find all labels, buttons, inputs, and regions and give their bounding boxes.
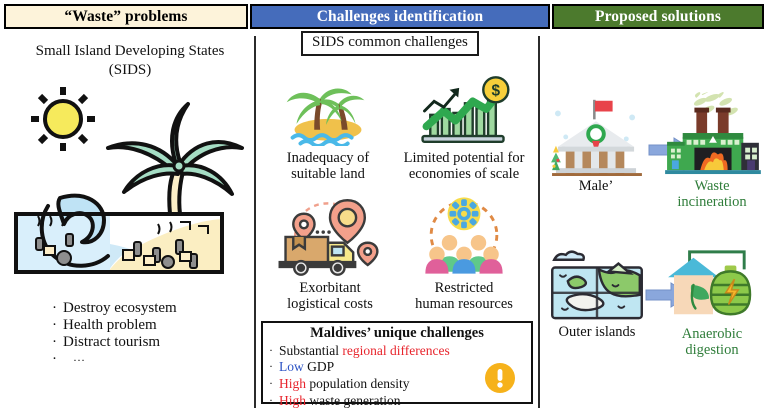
bullet-dot: · (52, 317, 63, 334)
list-item: · Distract tourism (52, 334, 252, 351)
banner-challenges-identification: Challenges identification (250, 4, 550, 29)
bullet-label: Distract tourism (63, 334, 160, 351)
sun-palm-tree-wave-polluted-beach-illustration (8, 86, 258, 296)
solution-label: Outer islands (538, 324, 656, 340)
challenge-inadequacy-of-suitable-land: Inadequacy of suitable land (264, 84, 392, 182)
challenge-label: Inadequacy of suitable land (264, 150, 392, 182)
challenge-label-line2: suitable land (264, 166, 392, 182)
solution-target-waste-incineration: Waste incineration (660, 92, 764, 210)
solution-source-outer-islands: Outer islands (538, 250, 656, 340)
banner-waste-label: “Waste” problems (64, 8, 187, 26)
bullet-dot: · (269, 376, 279, 391)
maldives-item-3-part-0: High (279, 393, 306, 408)
svg-text:$: $ (492, 83, 501, 100)
solution-label-line1: Male’ (540, 178, 652, 194)
list-item: · High waste generation (269, 393, 525, 408)
palm-tree-icon (108, 104, 242, 214)
growth-chart-dollar-icon: $ (392, 78, 536, 146)
maldives-unique-challenges-box: Maldives’ unique challenges · Substantia… (261, 321, 533, 404)
list-item: · … (52, 351, 252, 368)
banner-challenges-label: Challenges identification (317, 8, 484, 26)
island-palm-icon (264, 84, 392, 146)
maldives-item-2-part-0: High (279, 376, 306, 391)
solution-label-line1: Anaerobic (658, 326, 766, 342)
solution-source-male: Male’ (540, 92, 652, 194)
banner-proposed-solutions: Proposed solutions (552, 4, 764, 29)
bullet-label: Destroy ecosystem (63, 300, 177, 317)
challenge-label-line2: economies of scale (392, 166, 536, 182)
maldives-item-1-part-0: Low (279, 359, 304, 374)
challenge-label-line1: Restricted (396, 280, 532, 296)
bullet-dot: · (269, 359, 279, 374)
outer-islands-map-icon (538, 250, 656, 322)
waste-problem-bullets: · Destroy ecosystem · Health problem · D… (52, 300, 252, 368)
solution-label: Waste incineration (660, 178, 764, 210)
bullet-dot: · (269, 393, 279, 408)
sids-common-challenges-label: SIDS common challenges (312, 34, 468, 50)
maldives-item-3-part-1: waste generation (306, 393, 400, 408)
solution-label-line2: digestion (658, 342, 766, 358)
solution-label-line1: Outer islands (538, 324, 656, 340)
exclamation-warning-icon (485, 363, 515, 393)
challenge-label: Exorbitant logistical costs (268, 280, 392, 312)
challenge-label-line2: human resources (396, 296, 532, 312)
sids-title-line1: Small Island Developing States (6, 42, 254, 61)
beach-scene (16, 196, 222, 272)
challenge-label-line2: logistical costs (268, 296, 392, 312)
maldives-item-2-part-1: population density (306, 376, 410, 391)
challenge-exorbitant-logistical-costs: Exorbitant logistical costs (268, 196, 392, 312)
list-item: · Destroy ecosystem (52, 300, 252, 317)
bullet-label: Health problem (63, 317, 157, 334)
challenge-label: Restricted human resources (396, 280, 532, 312)
sids-title-line2: (SIDS) (6, 61, 254, 80)
challenge-label: Limited potential for economies of scale (392, 150, 536, 182)
challenge-restricted-human-resources: Restricted human resources (396, 196, 532, 312)
maldives-item-0-part-0: Substantial (279, 343, 342, 358)
bullet-dot: · (52, 351, 63, 368)
people-gear-icon (396, 196, 532, 276)
solution-label-line2: incineration (660, 194, 764, 210)
bullet-label: … (63, 351, 87, 365)
challenge-label-line1: Limited potential for (392, 150, 536, 166)
sids-common-challenges-box: SIDS common challenges (301, 31, 479, 56)
banner-waste-problems: “Waste” problems (4, 4, 248, 29)
infographic-root: “Waste” problems Challenges identificati… (0, 0, 768, 408)
challenge-label-line1: Inadequacy of (264, 150, 392, 166)
challenge-label-line1: Exorbitant (268, 280, 392, 296)
sids-title: Small Island Developing States (SIDS) (6, 42, 254, 80)
bullet-dot: · (52, 300, 63, 317)
solution-label: Anaerobic digestion (658, 326, 766, 358)
list-item: · Substantial regional differences (269, 343, 525, 360)
banner-solutions-label: Proposed solutions (595, 8, 721, 26)
delivery-truck-location-pins-icon (268, 196, 392, 276)
bullet-dot: · (52, 334, 63, 351)
maldives-item-0-part-1: regional differences (342, 343, 449, 358)
bullet-dot: · (269, 343, 279, 358)
incineration-plant-icon (660, 92, 764, 176)
solution-label-line1: Waste (660, 178, 764, 194)
maldives-item-1-part-1: GDP (304, 359, 334, 374)
solution-label: Male’ (540, 178, 652, 194)
challenge-limited-potential-for-economies-of-scale: $ Limited potential for economies of sca… (392, 78, 536, 182)
list-item: · Health problem (52, 317, 252, 334)
anaerobic-digester-icon (658, 246, 766, 324)
solution-target-anaerobic-digestion: Anaerobic digestion (658, 246, 766, 358)
sun-icon (31, 87, 95, 151)
maldives-box-title: Maldives’ unique challenges (269, 325, 525, 342)
government-building-icon (540, 92, 652, 176)
